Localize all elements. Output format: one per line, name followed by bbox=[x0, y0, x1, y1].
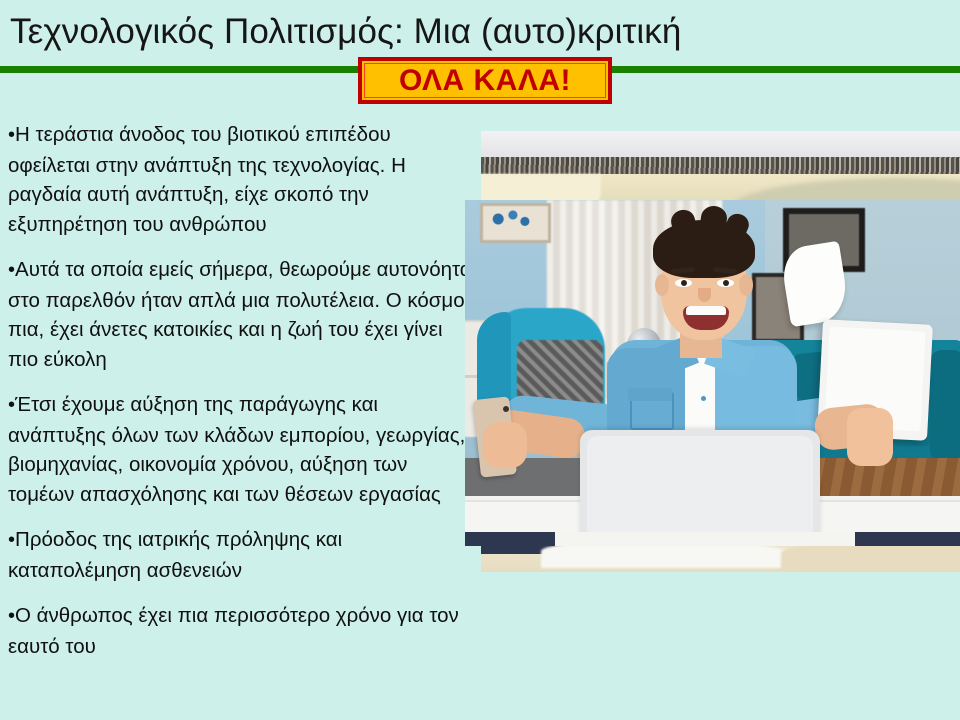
photo-sofa-arm bbox=[930, 350, 960, 462]
list-item-text: Η τεράστια άνοδος του βιοτικού επιπέδου … bbox=[8, 123, 406, 236]
photo-armchair-wing bbox=[477, 312, 511, 408]
photo-man-ear bbox=[655, 274, 669, 296]
list-item: •Έτσι έχουμε αύξηση της παράγωγης και αν… bbox=[8, 390, 478, 509]
photo-man-pocket-flap bbox=[628, 388, 672, 401]
photo-wall-frame-artwork bbox=[489, 209, 535, 229]
list-item-text: Πρόοδος της ιατρικής πρόληψης και καταπο… bbox=[8, 528, 342, 582]
bullet-marker: • bbox=[8, 605, 15, 627]
list-item: •Η τεράστια άνοδος του βιοτικού επιπέδου… bbox=[8, 120, 478, 239]
bullet-marker: • bbox=[8, 124, 15, 146]
list-item: •Ο άνθρωπος έχει πια περισσότερο χρόνο γ… bbox=[8, 601, 478, 661]
photo-man-teeth bbox=[686, 306, 726, 315]
status-badge: ΟΛΑ ΚΑΛΑ! bbox=[358, 57, 612, 104]
bullet-list: •Η τεράστια άνοδος του βιοτικού επιπέδου… bbox=[8, 120, 478, 677]
list-item: •Πρόοδος της ιατρικής πρόληψης και καταπ… bbox=[8, 525, 478, 585]
list-item-text: Έτσι έχουμε αύξηση της παράγωγης και ανά… bbox=[8, 393, 465, 506]
bullet-marker: • bbox=[8, 259, 15, 281]
photo-laptop-lid bbox=[587, 436, 813, 546]
list-item-text: Ο άνθρωπος έχει πια περισσότερο χρόνο γι… bbox=[8, 604, 459, 658]
photo-man-ear bbox=[739, 274, 753, 296]
photo-man-right-hand bbox=[847, 408, 893, 466]
list-item-text: Αυτά τα οποία εμείς σήμερα, θεωρούμε αυτ… bbox=[8, 258, 477, 371]
bullet-marker: • bbox=[8, 529, 15, 551]
slide-canvas: Τεχνολογικός Πολιτισμός: Μια (αυτο)κριτι… bbox=[0, 0, 960, 720]
page-title: Τεχνολογικός Πολιτισμός: Μια (αυτο)κριτι… bbox=[10, 8, 850, 56]
photo-man-nose bbox=[698, 288, 711, 302]
foreground-photo bbox=[465, 200, 960, 546]
photo-man-pupil bbox=[723, 280, 729, 286]
photo-man-left-hand bbox=[483, 422, 527, 468]
photo-bg-hair-band bbox=[481, 157, 960, 174]
list-item: •Αυτά τα οποία εμείς σήμερα, θεωρούμε αυ… bbox=[8, 255, 478, 374]
photo-man-pupil bbox=[681, 280, 687, 286]
photo-man-shirt-button bbox=[701, 396, 706, 401]
photo-smartphone-camera bbox=[503, 406, 509, 412]
bullet-marker: • bbox=[8, 394, 15, 416]
photo-bottom-edge-white bbox=[555, 532, 855, 546]
status-badge-label: ΟΛΑ ΚΑΛΑ! bbox=[399, 64, 571, 98]
photo-bg-top-wall bbox=[481, 131, 960, 157]
